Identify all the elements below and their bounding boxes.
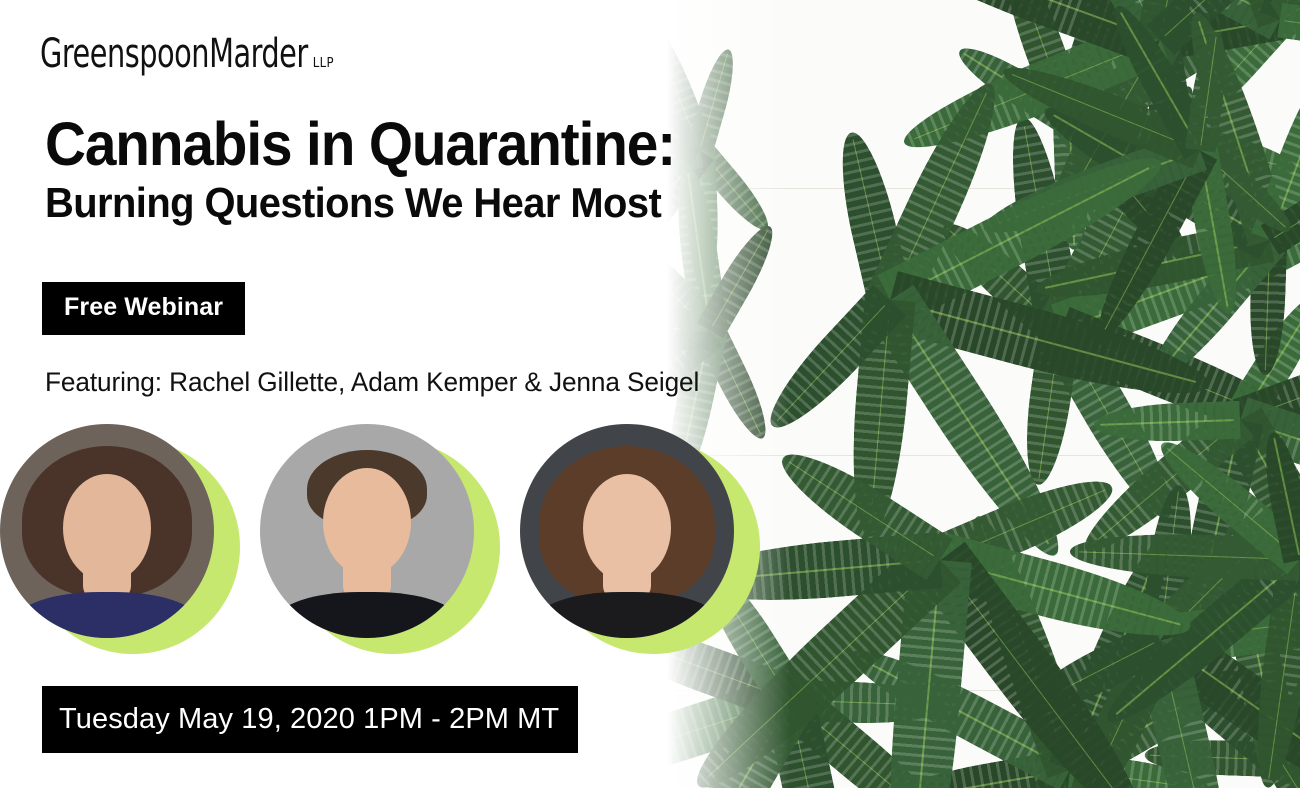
portrait-shoulders [277,592,457,638]
event-datetime-bar: Tuesday May 19, 2020 1PM - 2PM MT [42,686,578,753]
speaker-portrait [0,424,240,654]
portrait-face [323,468,411,576]
headshot-adam-kemper [260,424,474,638]
event-datetime-text: Tuesday May 19, 2020 1PM - 2PM MT [42,703,559,736]
featuring-speakers-line: Featuring: Rachel Gillette, Adam Kemper … [45,367,699,398]
headshot-jenna-seigel [520,424,734,638]
free-webinar-badge: Free Webinar [42,282,245,335]
page-title: Cannabis in Quarantine: [45,114,675,175]
greenspoon-marder-logo: GreenspoonMarder LLP [40,31,334,77]
speaker-portrait [520,424,760,654]
logo-llp-suffix: LLP [313,56,334,71]
portrait-shoulders [17,592,197,638]
logo-wordmark: GreenspoonMarder [40,31,308,77]
speaker-portrait [260,424,500,654]
portrait-shoulders [537,592,717,638]
headshot-rachel-gillette [0,424,214,638]
webinar-promo-poster: GreenspoonMarder LLP Cannabis in Quarant… [0,0,1300,788]
content-column: GreenspoonMarder LLP Cannabis in Quarant… [0,0,800,788]
page-subtitle: Burning Questions We Hear Most [45,182,661,224]
